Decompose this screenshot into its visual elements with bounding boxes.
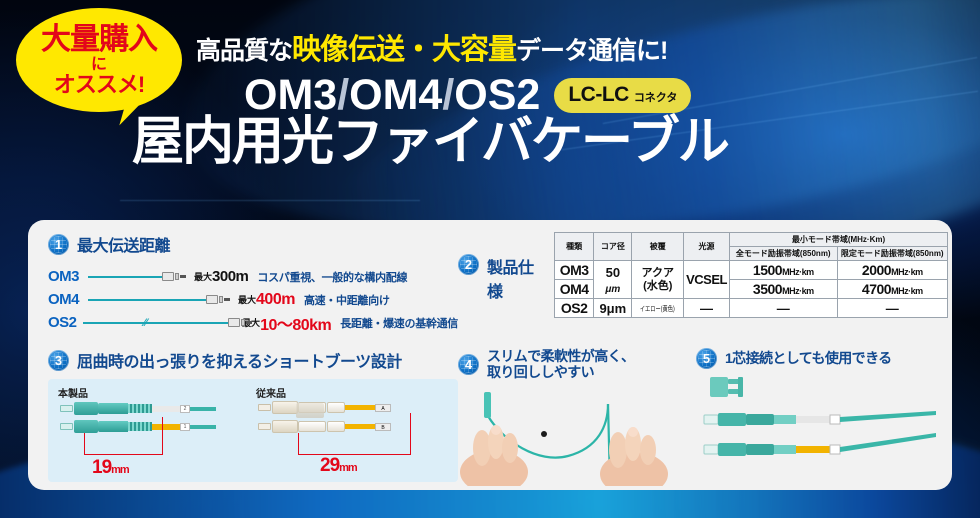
cable-connector-icon (162, 272, 186, 282)
section-product-spec: 2 製品仕様 種類 コア径 被覆 光源 最小モード帯域(MHz·Km) 全モード… (458, 232, 948, 318)
section5-header: 5 1芯接続としても使用できる (696, 348, 946, 369)
distance-rows: OM3 最大 300m コスパ重視、一般的な構内配線 OM4 最大 (48, 265, 458, 334)
cable-connector-icon (206, 295, 230, 305)
section2-header: 2 製品仕様 (458, 232, 546, 318)
distance-row: OS2 ⁄⁄ 最大 10〜80km 長距離・爆速の基幹通信 (48, 311, 458, 334)
bw-full-value: 3500 (753, 281, 782, 297)
table-header-row-1: 種類 コア径 被覆 光源 最小モード帯域(MHz·Km) (555, 233, 948, 247)
cell-full-mode-bandwidth: 1500MHz·km (730, 261, 838, 280)
conventional-clear-housing (296, 403, 324, 418)
cable-break-icon: ⁄⁄ (143, 317, 147, 329)
cell-full-mode-bandwidth: — (730, 299, 838, 318)
coating-text: イエロー(黄色) (640, 304, 675, 314)
bw-limited-unit: MHz·km (891, 267, 923, 277)
section4-title-wrap: スリムで柔軟性が高く、 取り回ししやすい (487, 348, 634, 380)
headline-kicker: 高品質な映像伝送・大容量データ通信に! (196, 26, 728, 68)
section4-title-line2: 取り回ししやすい (487, 364, 634, 380)
page-title: 屋内用光ファイバケーブル (132, 115, 728, 170)
fiber-mark-b: B (375, 423, 391, 431)
header-min-mode-bandwidth: 最小モード帯域(MHz·Km) (730, 233, 948, 247)
section5-title: 1芯接続としても使用できる (725, 350, 892, 366)
background-hairline-1 (120, 200, 420, 201)
section4-number: 4 (465, 357, 472, 372)
badge-line-2: に (91, 57, 107, 73)
right-dim-value: 29 (320, 455, 339, 476)
cable-upper (704, 411, 936, 426)
cable-graphic (88, 295, 232, 305)
duplex-clip-icon (710, 377, 743, 397)
left-dim-value: 19 (92, 457, 111, 478)
distance-value: 10〜80km (260, 311, 331, 335)
section1-title: 最大伝送距離 (77, 232, 170, 256)
distance-max-prefix: 最大 (194, 270, 212, 283)
right-dim-unit: mm (339, 462, 357, 474)
cell-limited-mode-bandwidth: 4700MHz·km (837, 280, 947, 299)
product-slash-2: / (442, 71, 454, 119)
kicker-post: データ通信に! (516, 37, 667, 65)
product-names: OM3/OM4/OS2 (244, 74, 540, 117)
badge-line-1: 大量購入 (41, 25, 157, 55)
section1-number: 1 (55, 237, 62, 252)
section-slim-flexible: 4 スリムで柔軟性が高く、 取り回ししやすい (458, 348, 686, 488)
fiber-mark-a: A (375, 404, 391, 412)
header-light-source: 光源 (684, 233, 730, 261)
cell-type: OM4 (555, 280, 594, 299)
header-type: 種類 (555, 233, 594, 261)
distance-description: 高速・中距離向け (304, 292, 390, 308)
section2-title: 製品仕様 (487, 254, 546, 302)
kicker-pre: 高品質な (196, 37, 292, 65)
distance-description: 長距離・爆速の基幹通信 (340, 315, 458, 331)
features-card: 1 最大伝送距離 OM3 最大 300m コスパ重視、一般的な構内配線 OM4 (28, 220, 952, 490)
fiber-mark-2: 2 (180, 405, 190, 413)
bw-limited-value: 4700 (862, 281, 891, 297)
cable-lower (704, 433, 936, 456)
product-row: OM3/OM4/OS2 LC-LC コネクタ (244, 74, 728, 117)
bw-full-unit: MHz·km (782, 286, 814, 296)
cell-core-diameter: 50μm (594, 261, 632, 299)
distance-type-label: OM3 (48, 268, 88, 285)
single-core-photo (696, 375, 946, 477)
connector-top: A (258, 401, 391, 414)
cell-limited-mode-bandwidth: 2000MHz·km (837, 261, 947, 280)
cell-type: OS2 (555, 299, 594, 318)
dim-tick-right-a (298, 433, 299, 455)
conventional-product-label: 従来品 (256, 385, 286, 400)
cell-type: OM3 (555, 261, 594, 280)
table-row: OM3 50μm アクア(水色) VCSEL 1500MHz·km 2000MH… (555, 261, 948, 280)
promo-banner: 大量購入 に オススメ! 高品質な映像伝送・大容量データ通信に! OM3/OM4… (0, 0, 980, 518)
fiber-connector-left (484, 392, 491, 418)
cell-light-source: — (684, 299, 730, 318)
connector-bottom: B (258, 420, 391, 433)
badge-line-3: オススメ! (54, 74, 144, 96)
distance-row: OM4 最大 400m 高速・中距離向け (48, 288, 458, 311)
section1-header: 1 最大伝送距離 (48, 232, 458, 256)
headline-block: 高品質な映像伝送・大容量データ通信に! OM3/OM4/OS2 LC-LC コネ… (196, 26, 728, 170)
hands-holding-fiber-photo (458, 386, 686, 488)
section3-header: 3 屈曲時の出っ張りを抑えるショートブーツ設計 (48, 348, 458, 372)
distance-max-prefix: 最大 (238, 293, 256, 306)
product-om4: OM4 (349, 71, 442, 119)
cable-graphic: ⁄⁄ (83, 318, 236, 328)
kicker-emphasis: 映像伝送・大容量 (292, 34, 516, 66)
dim-tick-left-b (162, 417, 163, 455)
section-number-badge-3: 3 (48, 350, 69, 371)
header-coating: 被覆 (632, 233, 684, 261)
bw-full-unit: MHz·km (782, 267, 814, 277)
cable-connector-icon (228, 318, 252, 328)
section-number-badge-4: 4 (458, 354, 479, 375)
core-value: 50 (606, 265, 620, 280)
this-product-dimension: 19mm (92, 457, 129, 479)
cell-limited-mode-bandwidth: — (837, 299, 947, 318)
distance-type-label: OM4 (48, 291, 88, 308)
boot-comparison-image: 本製品 2 1 19mm 従来品 (48, 379, 458, 482)
bw-limited-value: 2000 (862, 262, 891, 278)
this-product-label: 本製品 (58, 385, 88, 400)
section3-title: 屈曲時の出っ張りを抑えるショートブーツ設計 (77, 348, 402, 372)
section-short-boot: 3 屈曲時の出っ張りを抑えるショートブーツ設計 本製品 2 1 (48, 348, 458, 482)
conventional-dimension: 29mm (320, 455, 357, 477)
distance-row: OM3 最大 300m コスパ重視、一般的な構内配線 (48, 265, 458, 288)
distance-type-label: OS2 (48, 314, 83, 331)
section3-number: 3 (55, 353, 62, 368)
spec-table: 種類 コア径 被覆 光源 最小モード帯域(MHz·Km) 全モード励振帯域(85… (554, 232, 948, 318)
cell-full-mode-bandwidth: 3500MHz·km (730, 280, 838, 299)
header-core-diameter: コア径 (594, 233, 632, 261)
fiber-marker-dot (541, 431, 547, 437)
dim-tick-left-a (84, 433, 85, 455)
section2-number: 2 (465, 257, 472, 272)
distance-value: 300m (212, 268, 248, 285)
cable-line (88, 299, 206, 302)
header-full-mode: 全モード励振帯域(850nm) (730, 247, 838, 261)
cell-coating: アクア(水色) (632, 261, 684, 299)
cell-light-source: VCSEL (684, 261, 730, 299)
product-slash-1: / (337, 71, 349, 119)
section5-number: 5 (703, 351, 710, 366)
cable-graphic (88, 272, 188, 282)
cable-line (83, 322, 228, 325)
hands-fiber-illustration (458, 386, 686, 486)
section4-title-line1: スリムで柔軟性が高く、 (487, 348, 634, 364)
product-os2: OS2 (454, 71, 540, 119)
distance-description: コスパ重視、一般的な構内配線 (257, 269, 407, 285)
fiber-mark-1: 1 (180, 423, 190, 431)
left-dim-unit: mm (111, 464, 129, 476)
distance-value: 400m (256, 291, 295, 309)
header-limited-mode: 限定モード励振帯域(850nm) (837, 247, 947, 261)
product-om3: OM3 (244, 71, 337, 119)
connector-type-label: LC-LC (568, 83, 628, 107)
connector-type-pill: LC-LC コネクタ (554, 78, 691, 113)
bw-full-value: 1500 (753, 262, 782, 278)
bw-limited-unit: MHz·km (891, 286, 923, 296)
dim-tick-right-b (410, 413, 411, 455)
split-cable-illustration (696, 375, 946, 475)
cable-line (88, 276, 162, 279)
section-number-badge-2: 2 (458, 254, 479, 275)
cell-core-diameter: 9μm (594, 299, 632, 318)
table-row: OS2 9μm イエロー(黄色) — — — (555, 299, 948, 318)
section-single-core: 5 1芯接続としても使用できる (696, 348, 946, 477)
right-hand (600, 427, 668, 486)
left-hand (460, 425, 528, 486)
connector-bottom: 1 (60, 420, 216, 433)
cell-coating: イエロー(黄色) (632, 299, 684, 318)
connector-top: 2 (60, 402, 216, 415)
section-max-distance: 1 最大伝送距離 OM3 最大 300m コスパ重視、一般的な構内配線 OM4 (48, 232, 458, 334)
core-unit: μm (605, 284, 620, 295)
section-number-badge-5: 5 (696, 348, 717, 369)
section4-header: 4 スリムで柔軟性が高く、 取り回ししやすい (458, 348, 686, 380)
connector-suffix-label: コネクタ (634, 89, 678, 105)
bulk-purchase-badge: 大量購入 に オススメ! (16, 8, 182, 112)
dim-line-left (84, 454, 162, 455)
section-number-badge-1: 1 (48, 234, 69, 255)
